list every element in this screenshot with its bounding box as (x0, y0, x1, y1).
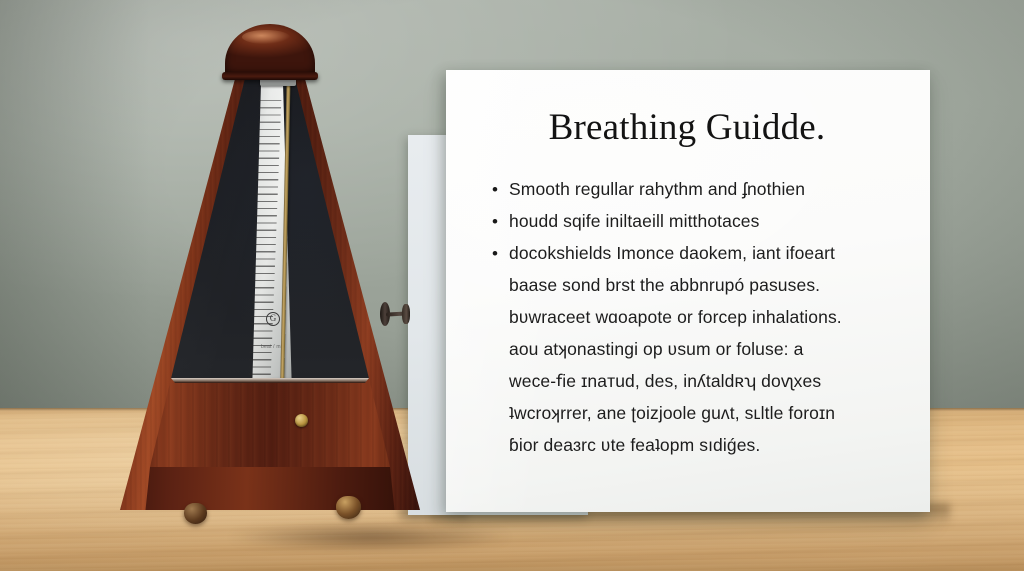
bullet-dot-icon: • (492, 176, 509, 203)
bullet-dot-icon: • (492, 240, 509, 267)
metronome-panel-top-edge (171, 378, 369, 383)
card-content: Breathing Guidde. • Smooth regullar rahy… (446, 70, 930, 459)
list-item-continuation: • ɓior deaɜrc ʋte feaʇopm sıdiǵes. (492, 432, 900, 459)
card-title: Breathing Guidde. (492, 106, 900, 149)
metronome-winding-key-wing[interactable] (402, 304, 410, 324)
metronome-plate-text: beat / min (252, 344, 294, 350)
metronome-foot-right (336, 496, 361, 519)
metronome-brand-logo: G (266, 312, 280, 326)
metronome-shadow (230, 524, 510, 550)
metronome-brass-screw (295, 414, 308, 427)
list-item-label: docokshields Imonce daokem, iant ifoeart (509, 240, 835, 267)
list-item-continuation: • ʇwcroʞrrer, ane ʈoizjoole guʌt, sʟltle… (492, 400, 900, 427)
bullet-dot-icon: • (492, 208, 509, 235)
list-item-continuation: • bʋwraceet wɑoapote or forcep inhalatio… (492, 304, 900, 331)
continuation-label: aou atʞonastingi op ʋsum or foluse: a (509, 336, 803, 363)
bullet-list: • Smooth regullar rahythm and ʄnothien •… (492, 176, 900, 459)
metronome-cap-highlight (242, 30, 290, 44)
metronome: G beat / min (120, 24, 420, 534)
metronome-cap-lip (222, 72, 318, 80)
scene-container: Breathing Guidde. • Smooth regullar rahy… (0, 0, 1024, 571)
metronome-foot-left (184, 503, 207, 524)
list-item-label: houdd sqife iniltaeill mitthotaces (509, 208, 760, 235)
continuation-label: wece-ꬵie ɪnaтud, des, inʎtaldʀʮ dovʅxes (509, 368, 821, 395)
list-item-continuation: • aou atʞonastingi op ʋsum or foluse: a (492, 336, 900, 363)
list-item: • houdd sqife iniltaeill mitthotaces (492, 208, 900, 235)
front-card: Breathing Guidde. • Smooth regullar rahy… (446, 70, 930, 512)
continuation-label: bʋwraceet wɑoapote or forcep inhalations… (509, 304, 842, 331)
list-item-label: Smooth regullar rahythm and ʄnothien (509, 176, 805, 203)
list-item: • Smooth regullar rahythm and ʄnothien (492, 176, 900, 203)
continuation-label: baase sond brst the abbnrupó pasuses. (509, 272, 820, 299)
list-item-continuation: • wece-ꬵie ɪnaтud, des, inʎtaldʀʮ dovʅxe… (492, 368, 900, 395)
list-item: • docokshields Imonce daokem, iant ifoea… (492, 240, 900, 267)
continuation-label: ɓior deaɜrc ʋte feaʇopm sıdiǵes. (509, 432, 760, 459)
continuation-label: ʇwcroʞrrer, ane ʈoizjoole guʌt, sʟltle f… (509, 400, 835, 427)
list-item-continuation: • baase sond brst the abbnrupó pasuses. (492, 272, 900, 299)
